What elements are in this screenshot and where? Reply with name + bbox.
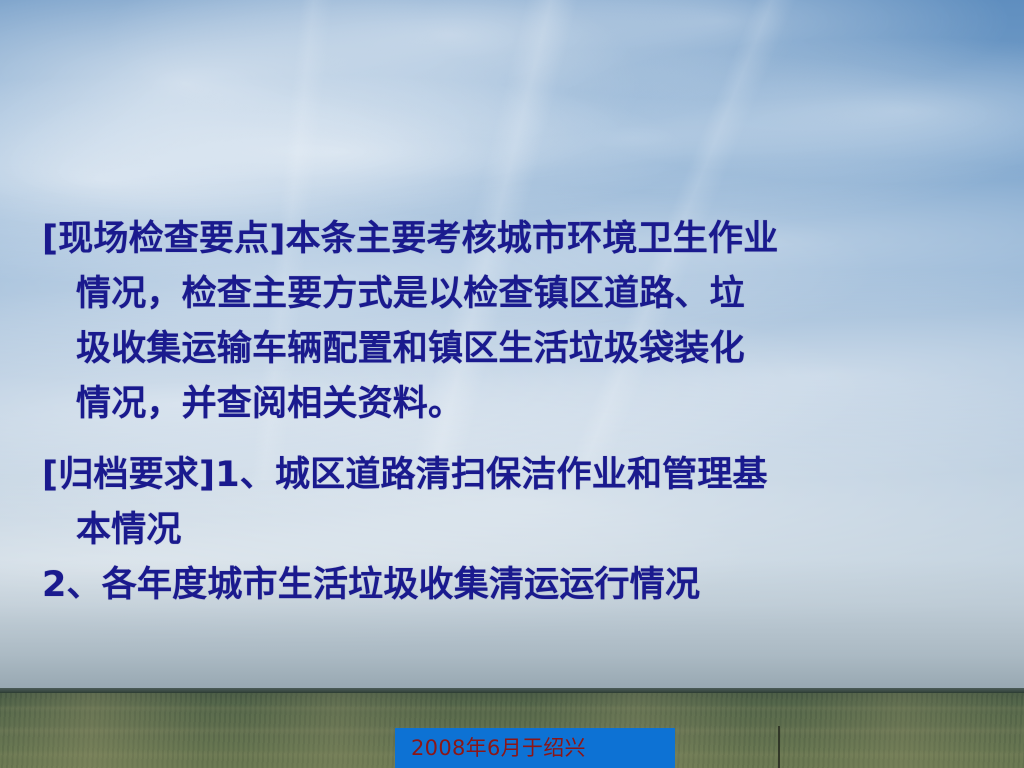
archive-item2-line-1: 2、各年度城市生活垃圾收集清运运行情况 — [42, 565, 700, 605]
paragraph-archive-requirements: [归档要求]1、城区道路清扫保洁作业和管理基 本情况 — [42, 448, 986, 558]
paragraph-inspection-points: [现场检查要点]本条主要考核城市环境卫生作业 情况，检查主要方式是以检查镇区道路… — [42, 212, 986, 432]
fence-post — [778, 726, 780, 768]
footer-banner: 2008年6月于绍兴 — [395, 728, 675, 768]
presentation-slide: [现场检查要点]本条主要考核城市环境卫生作业 情况，检查主要方式是以检查镇区道路… — [0, 0, 1024, 768]
archive-line-1: [归档要求]1、城区道路清扫保洁作业和管理基 — [42, 455, 768, 495]
inspection-line-1: [现场检查要点]本条主要考核城市环境卫生作业 — [42, 219, 778, 259]
paragraph-archive-item-2: 2、各年度城市生活垃圾收集清运运行情况 — [42, 558, 986, 613]
archive-line-2: 本情况 — [42, 503, 986, 558]
footer-banner-text: 2008年6月于绍兴 — [411, 738, 586, 759]
inspection-line-3: 圾收集运输车辆配置和镇区生活垃圾袋装化 — [42, 322, 986, 377]
inspection-line-4: 情况，并查阅相关资料。 — [42, 377, 986, 432]
inspection-line-2: 情况，检查主要方式是以检查镇区道路、垃 — [42, 267, 986, 322]
